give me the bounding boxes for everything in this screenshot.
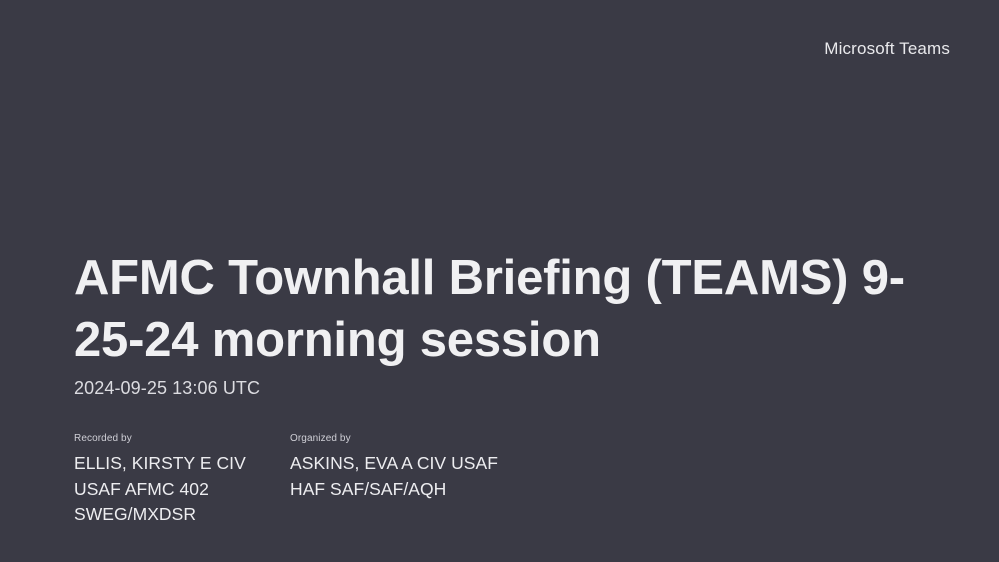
title-block: AFMC Townhall Briefing (TEAMS) 9-25-24 m… (74, 247, 934, 399)
recording-metadata: Recorded by ELLIS, KIRSTY E CIV USAF AFM… (74, 432, 590, 528)
recording-title: AFMC Townhall Briefing (TEAMS) 9-25-24 m… (74, 247, 919, 371)
recording-timestamp: 2024-09-25 13:06 UTC (74, 378, 934, 399)
recorded-by-value: ELLIS, KIRSTY E CIV USAF AFMC 402 SWEG/M… (74, 451, 274, 528)
recording-title-card: Microsoft Teams AFMC Townhall Briefing (… (0, 0, 999, 562)
microsoft-teams-brand-label: Microsoft Teams (824, 39, 950, 59)
recorded-by-column: Recorded by ELLIS, KIRSTY E CIV USAF AFM… (74, 432, 290, 528)
organized-by-label: Organized by (290, 432, 590, 445)
organized-by-value: ASKINS, EVA A CIV USAF HAF SAF/SAF/AQH (290, 451, 525, 502)
organized-by-column: Organized by ASKINS, EVA A CIV USAF HAF … (290, 432, 590, 502)
recorded-by-label: Recorded by (74, 432, 290, 445)
